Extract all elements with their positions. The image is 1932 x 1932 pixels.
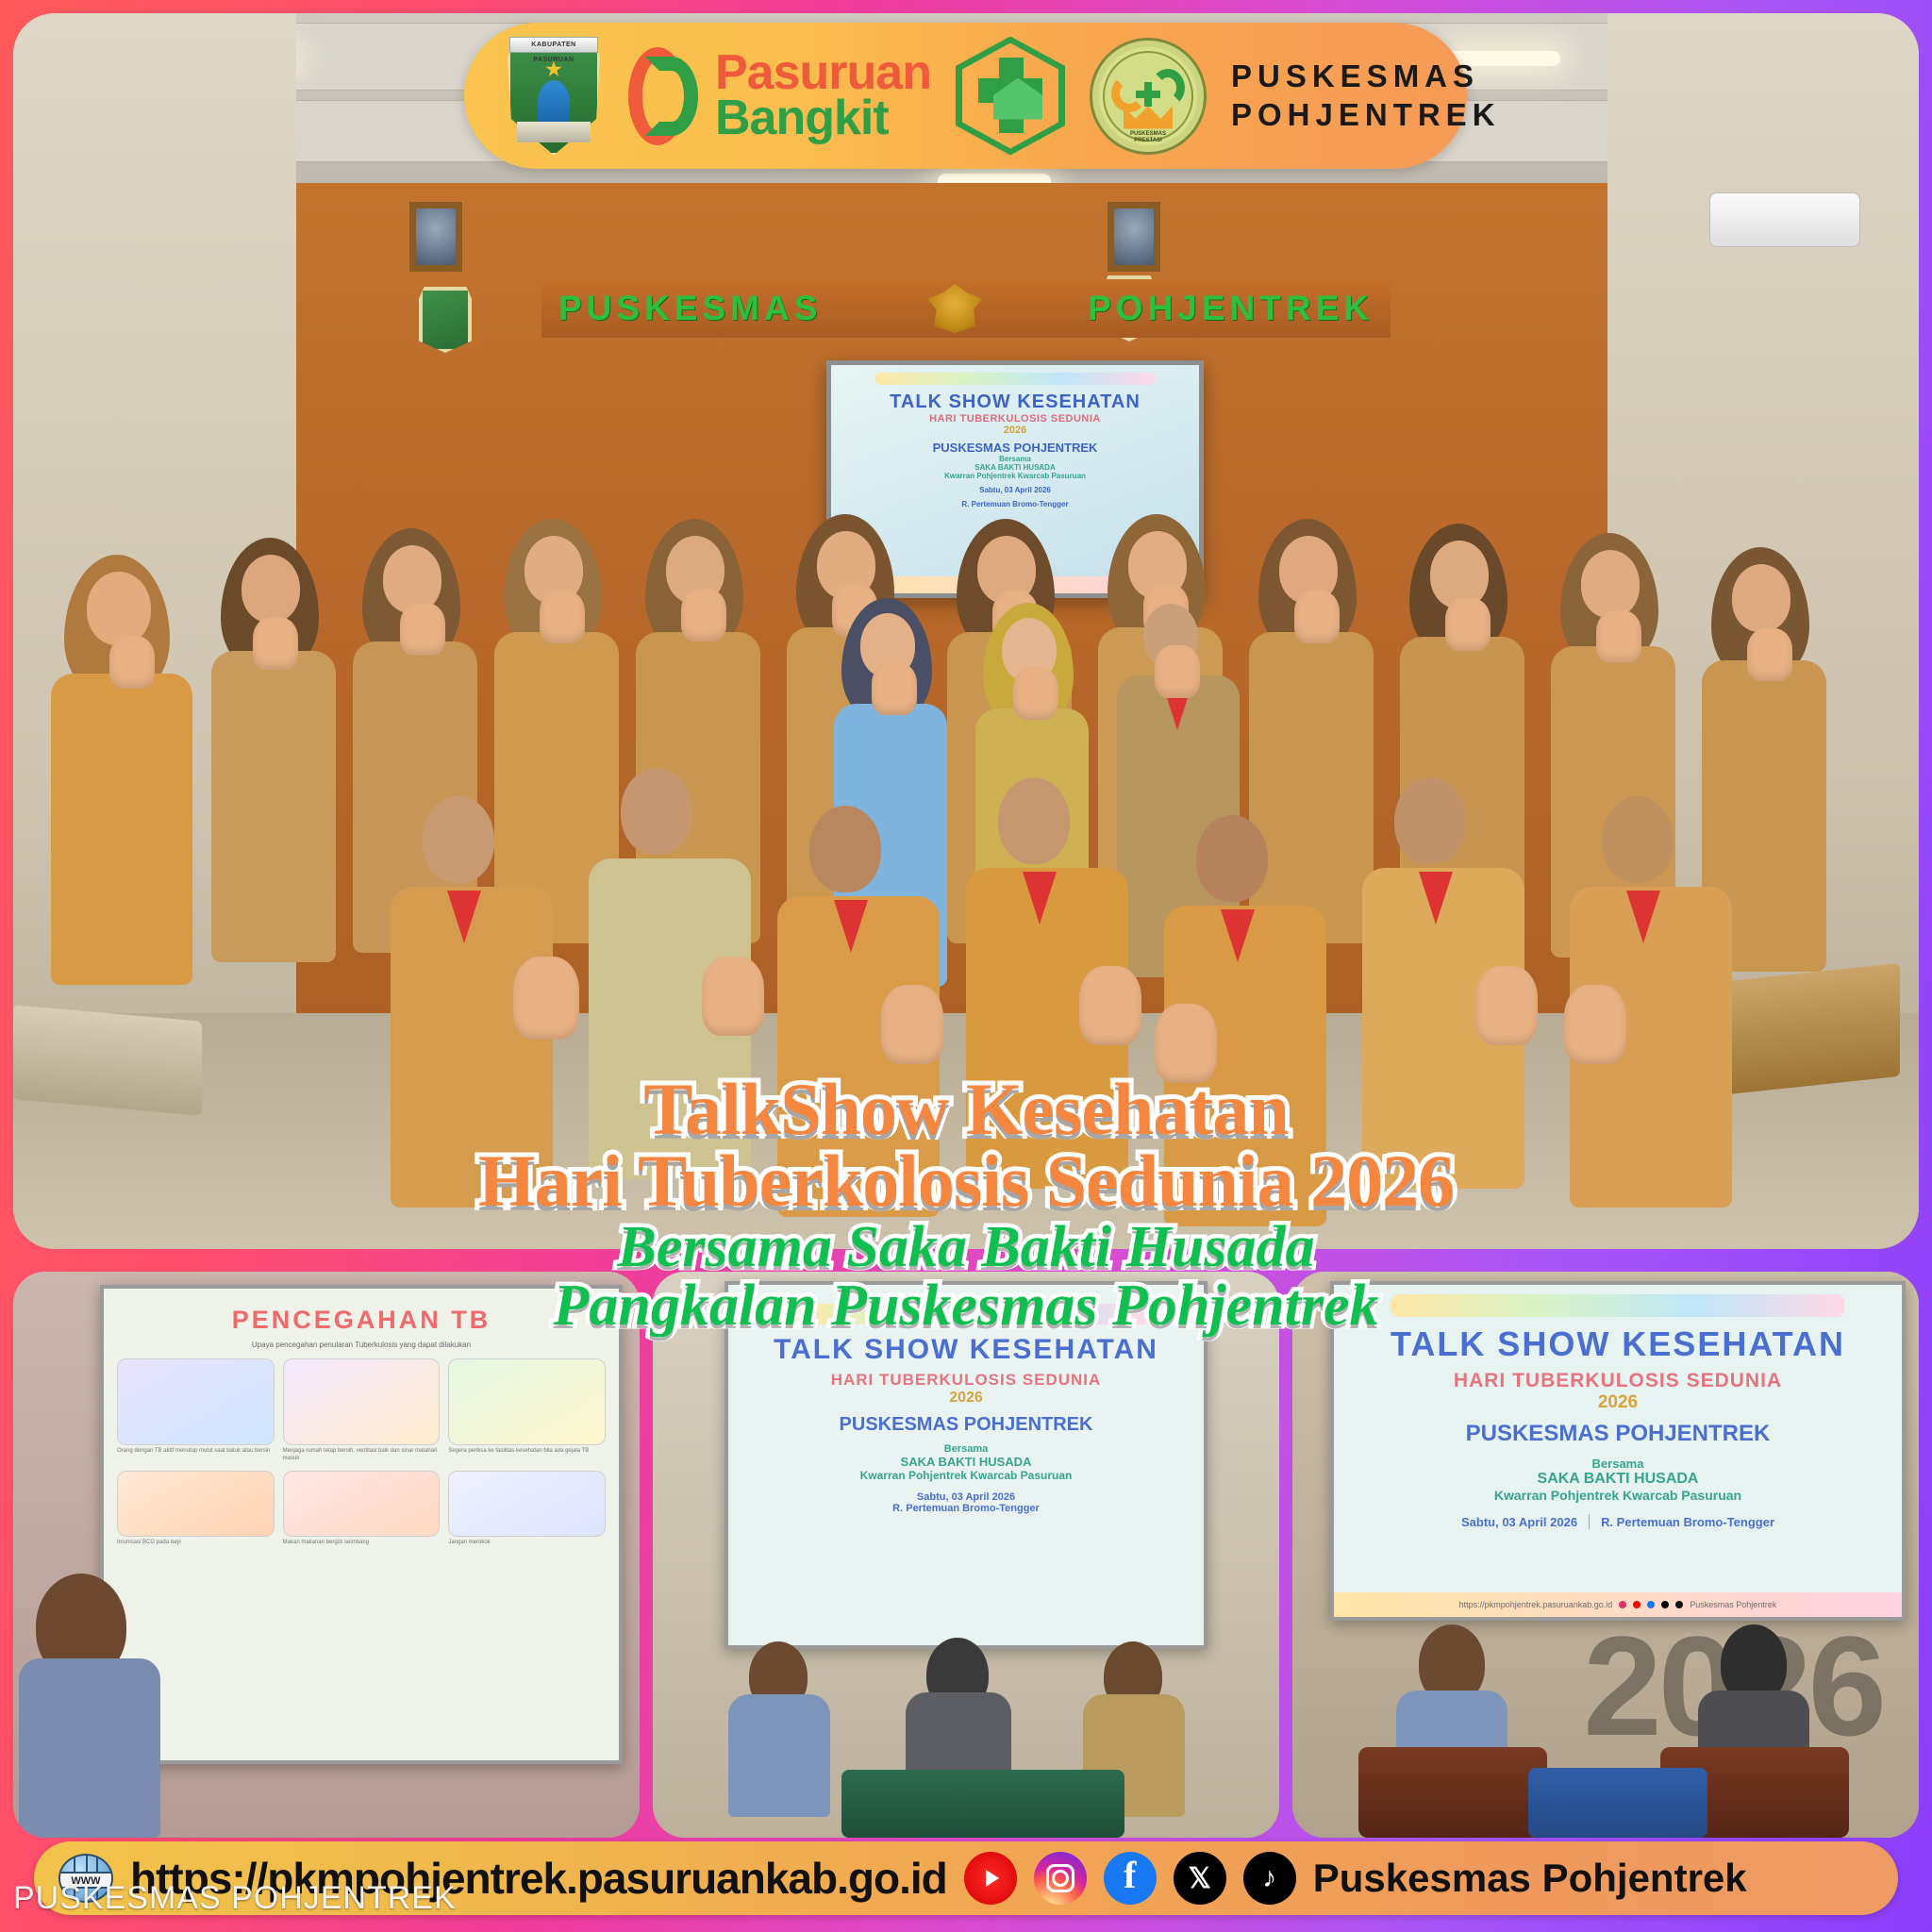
youtube-icon[interactable] <box>964 1852 1017 1905</box>
brand-line-1: Pasuruan <box>715 51 931 96</box>
wall-sign-right-text: POHJENTREK <box>1088 289 1374 328</box>
puskesmas-seal-icon: PUSKESMAS PRESTASI <box>1090 38 1207 155</box>
side-table-left <box>13 1005 202 1115</box>
wall-sign-left-text: PUSKESMAS <box>558 289 822 328</box>
thumb1-grid-item: Imunisasi BCG pada bayi <box>117 1471 275 1547</box>
thumb1-grid-item: Menjaga rumah tetap bersih, ventilasi ba… <box>283 1358 441 1462</box>
thumb2-slide-subtitle: HARI TUBERKULOSIS SEDUNIA <box>728 1371 1204 1390</box>
org-name-line-2: POHJENTREK <box>1231 96 1501 134</box>
thumb2-logo-bar <box>783 1304 1149 1324</box>
pasuruan-regency-crest-icon: KABUPATEN PASURUAN <box>504 37 604 156</box>
thumb1-slide-subtitle: Upaya pencegahan penularan Tuberkulosis … <box>104 1341 619 1349</box>
thumb2-slide-venue: R. Pertemuan Bromo-Tengger <box>728 1503 1204 1514</box>
slide-title: TALK SHOW KESEHATAN <box>837 391 1193 413</box>
org-name: PUSKESMAS POHJENTREK <box>1231 58 1501 134</box>
thumb3-slide-partner: SAKA BAKTI HUSADA <box>1334 1471 1902 1488</box>
slide-year: 2026 <box>837 425 1193 436</box>
tiktok-icon[interactable]: ♪ <box>1243 1852 1296 1905</box>
garuda-emblem-icon <box>927 284 982 333</box>
thumb1-illustration-grid: Orang dengan TB aktif menutup mulut saat… <box>104 1349 619 1557</box>
thumb3-slide-venue: R. Pertemuan Bromo-Tengger <box>1601 1515 1774 1529</box>
thumb1-caption: Makan makanan bergizi seimbang <box>283 1540 441 1547</box>
header-logo-banner: KABUPATEN PASURUAN Pasuruan Bangkit PUSK… <box>464 23 1467 169</box>
thumb3-slide-org: PUSKESMAS POHJENTREK <box>1334 1421 1902 1447</box>
thumb2-slide-partner: SAKA BAKTI HUSADA <box>728 1455 1204 1469</box>
thumb1-grid-item: Jangan merokok <box>448 1471 606 1547</box>
crest-ribbon-text: KABUPATEN PASURUAN <box>509 37 598 53</box>
thumb2-slide-date: Sabtu, 03 April 2026 <box>728 1491 1204 1503</box>
thumb3-slide-title: TALK SHOW KESEHATAN <box>1334 1324 1902 1364</box>
thumbnail-talkshow-screen[interactable]: TALK SHOW KESEHATAN HARI TUBERKULOSIS SE… <box>653 1272 1279 1838</box>
thumb1-caption: Orang dengan TB aktif menutup mulut saat… <box>117 1448 275 1456</box>
thumb2-slide-year: 2026 <box>728 1390 1204 1407</box>
thumb1-grid-item: Orang dengan TB aktif menutup mulut saat… <box>117 1358 275 1462</box>
pasuruan-bangkit-logo: Pasuruan Bangkit <box>628 47 931 145</box>
coffee-table <box>1528 1768 1707 1838</box>
thumb1-caption: Menjaga rumah tetap bersih, ventilasi ba… <box>283 1448 441 1462</box>
health-center-hex-cross-icon <box>956 37 1065 156</box>
seal-label-line-1: PUSKESMAS <box>1130 131 1166 137</box>
air-conditioner <box>1709 192 1860 247</box>
instagram-icon[interactable] <box>1034 1852 1087 1905</box>
wall-portrait <box>1108 202 1160 272</box>
thumb2-slide-org: PUSKESMAS POHJENTREK <box>728 1414 1204 1436</box>
pasuruan-bangkit-mark-icon <box>628 47 706 145</box>
wall-sign: PUSKESMAS POHJENTREK <box>541 279 1391 338</box>
thumb1-grid-item: Segera periksa ke fasilitas kesehatan bi… <box>448 1358 606 1462</box>
org-name-line-1: PUSKESMAS <box>1231 58 1501 95</box>
slide-partner: SAKA BAKTI HUSADA <box>837 463 1193 472</box>
thumb3-slide-date: Sabtu, 03 April 2026 <box>1461 1515 1577 1529</box>
account-name: Puskesmas Pohjentrek <box>1313 1856 1747 1901</box>
thumb1-caption: Jangan merokok <box>448 1540 606 1547</box>
facebook-icon[interactable]: f <box>1104 1852 1157 1905</box>
slide-subtitle: HARI TUBERKULOSIS SEDUNIA <box>837 413 1193 425</box>
thumb2-slide-title: TALK SHOW KESEHATAN <box>728 1334 1204 1366</box>
thumb1-grid-item: Makan makanan bergizi seimbang <box>283 1471 441 1547</box>
seal-label-line-2: PRESTASI <box>1134 138 1162 143</box>
thumbnail-row: PENCEGAHAN TB Upaya pencegahan penularan… <box>0 1272 1932 1838</box>
brand-line-2: Bangkit <box>715 96 931 142</box>
wall-plaque <box>419 287 472 353</box>
thumb3-logo-bar <box>1391 1294 1845 1317</box>
thumb3-slide-subtitle: HARI TUBERKULOSIS SEDUNIA <box>1334 1370 1902 1392</box>
thumb2-slide-partner-sub: Kwarran Pohjentrek Kwarcab Pasuruan <box>728 1469 1204 1482</box>
slide-org: PUSKESMAS POHJENTREK <box>837 441 1193 455</box>
image-watermark: PUSKESMAS POHJENTREK <box>13 1880 457 1917</box>
wall-portrait <box>409 202 462 272</box>
armchair <box>1358 1747 1547 1838</box>
thumb1-slide-title: PENCEGAHAN TB <box>104 1306 619 1335</box>
slide-partner-sub: Kwarran Pohjentrek Kwarcab Pasuruan <box>837 472 1193 480</box>
slide-venue: R. Pertemuan Bromo-Tengger <box>837 500 1193 508</box>
thumb2-slide-with: Bersama <box>728 1443 1204 1455</box>
thumb3-slide-partner-sub: Kwarran Pohjentrek Kwarcab Pasuruan <box>1334 1488 1902 1503</box>
slide-logo-bar <box>874 373 1156 385</box>
thumb1-caption: Segera periksa ke fasilitas kesehatan bi… <box>448 1448 606 1456</box>
front-table <box>841 1770 1124 1838</box>
thumbnail-talkshow-speakers[interactable]: TALK SHOW KESEHATAN HARI TUBERKULOSIS SE… <box>1292 1272 1919 1838</box>
slide-date: Sabtu, 03 April 2026 <box>837 486 1193 494</box>
thumb3-slide-with: Bersama <box>1334 1457 1902 1471</box>
thumb1-caption: Imunisasi BCG pada bayi <box>117 1540 275 1547</box>
thumbnail-pencegahan-tb[interactable]: PENCEGAHAN TB Upaya pencegahan penularan… <box>13 1272 640 1838</box>
thumb3-slide-year: 2026 <box>1334 1392 1902 1413</box>
hero-photo: PUSKESMAS POHJENTREK TALK SHOW KESEHATAN… <box>13 13 1919 1249</box>
x-twitter-icon[interactable]: 𝕏 <box>1174 1852 1226 1905</box>
slide-with-label: Bersama <box>837 455 1193 463</box>
